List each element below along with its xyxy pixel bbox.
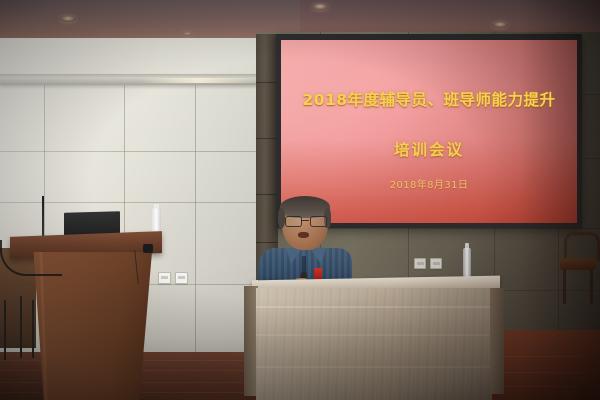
wall-outlet-icon	[175, 272, 188, 284]
slide-subtitle: 培训会议	[281, 138, 577, 160]
hair	[280, 196, 330, 218]
downlight-icon	[492, 22, 508, 28]
audio-cable	[0, 240, 62, 276]
photo-scene: 2018年度辅导员、班导师能力提升 培训会议 2018年8月31日	[0, 0, 600, 400]
eyeglasses-icon	[285, 216, 325, 226]
rail-highlight	[140, 78, 260, 83]
chair-seat	[560, 258, 596, 270]
chair-leg	[32, 300, 34, 358]
presenter	[258, 196, 354, 288]
name-badge	[314, 268, 322, 279]
downlight-icon	[182, 32, 193, 36]
microphone-clip	[143, 244, 153, 253]
side-chair-right	[558, 232, 596, 308]
water-bottle-on-desk	[463, 248, 471, 278]
wall-outlet-icon	[430, 258, 442, 269]
downlight-icon	[60, 16, 76, 22]
mouth	[298, 232, 309, 238]
wall-outlet-icon	[158, 272, 171, 284]
wall-rail	[0, 74, 272, 85]
chair-backrest	[564, 232, 600, 261]
slide-title: 2018年度辅导员、班导师能力提升	[281, 88, 577, 110]
desk-right-side	[490, 288, 504, 394]
chair-leg	[4, 300, 6, 360]
chair-leg	[20, 296, 22, 358]
wall-outlet-icon	[414, 258, 426, 269]
downlight-icon	[312, 4, 328, 10]
desk-front-panel	[256, 288, 492, 400]
slide-date: 2018年8月31日	[281, 176, 577, 191]
hair-side-left	[278, 208, 285, 228]
